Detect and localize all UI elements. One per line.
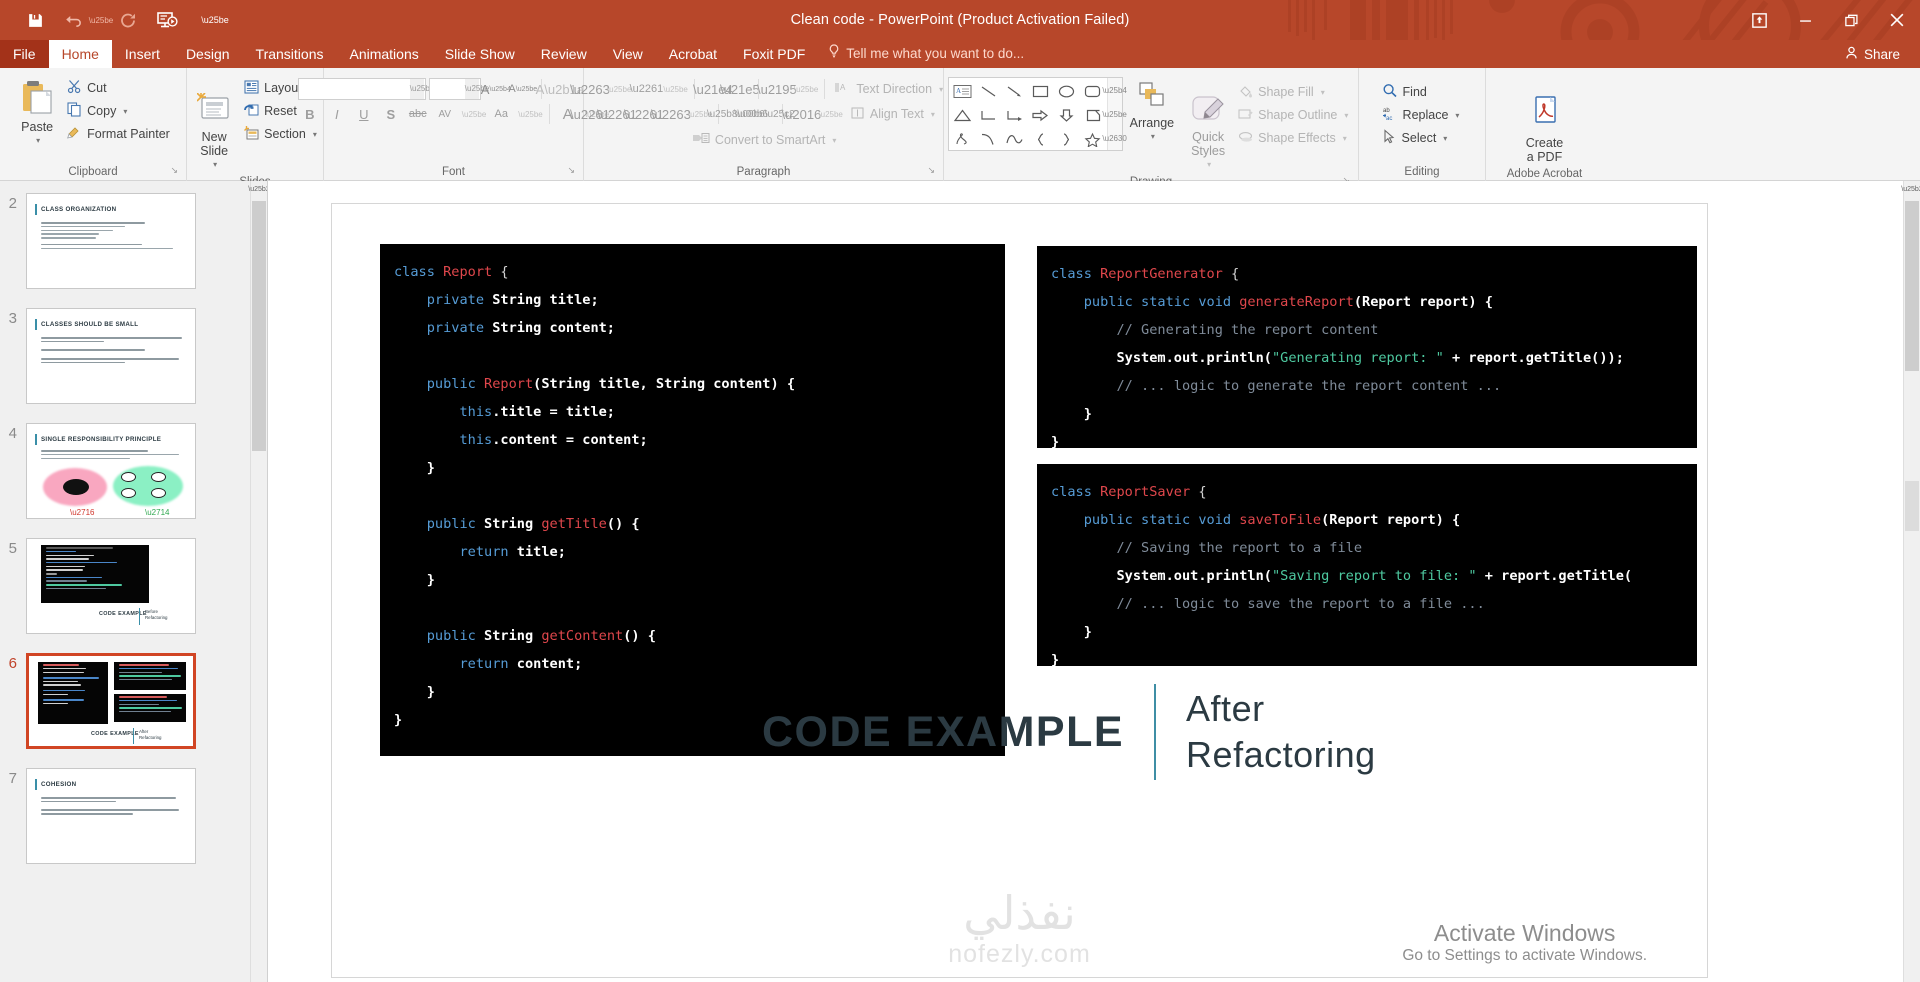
watermark-arabic: نفذلي [948,886,1091,940]
slide-thumbnail[interactable]: COHESION [26,768,196,864]
activation-title: Activate Windows [1402,920,1647,947]
thumb-subcaption: Before Refactoring [145,609,167,620]
clipboard-group-label: Clipboard ↘ [4,164,182,181]
slide-thumbnail-list: 2 CLASS ORGANIZATION 3 CLAS [0,181,267,864]
canvas-scrollbar-thumb-2[interactable] [1905,481,1919,531]
tab-view[interactable]: View [600,40,656,68]
right-brace-shape[interactable] [1054,127,1080,151]
arrange-icon [1135,81,1169,114]
triangle-shape[interactable] [950,103,976,127]
code-line [380,342,1005,370]
watermark: نفذلي nofezly.com [948,886,1091,969]
paragraph-dialog-launcher[interactable]: ↘ [927,162,935,179]
tab-insert[interactable]: Insert [112,40,173,68]
list-item[interactable]: 5 C [0,538,267,634]
paste-caret[interactable]: ▾ [36,134,40,148]
code-line: class ReportSaver { [1037,478,1697,506]
shape-effects-button[interactable]: Shape Effects ▾ [1235,127,1354,149]
text-direction-icon: A [835,81,851,98]
ribbon-group-adobe-acrobat: Create a PDF Adobe Acrobat [1485,68,1603,181]
thumb-caption: CODE EXAMPLE [91,731,139,737]
new-slide-caret[interactable]: ▾ [213,158,217,172]
strikethrough-icon[interactable]: abc [406,103,430,125]
slide-number: 4 [0,423,26,442]
tab-foxit-pdf[interactable]: Foxit PDF [730,40,818,68]
undo-icon[interactable] [54,3,92,37]
tab-animations[interactable]: Animations [336,40,431,68]
rectangle-shape[interactable] [1028,79,1054,103]
tab-slide-show[interactable]: Slide Show [432,40,528,68]
create-pdf-icon [1528,81,1562,134]
increase-font-size-icon[interactable]: A\u25b4 [484,78,508,100]
code-block-report-saver[interactable]: class ReportSaver { public static void s… [1037,464,1697,666]
shapes-gallery-more-icon[interactable]: \u2630 [1108,126,1122,150]
down-arrow-shape[interactable] [1054,103,1080,127]
thumb-title: SINGLE RESPONSIBILITY PRINCIPLE [41,436,161,443]
code-line: class ReportGenerator { [1037,260,1697,288]
svg-text:ab: ab [1383,108,1390,114]
slide-thumbnail-pane[interactable]: 2 CLASS ORGANIZATION 3 CLAS [0,181,268,982]
code-line: this.title = title; [380,398,1005,426]
ribbon-group-drawing: A [943,68,1358,181]
align-text-button[interactable]: Align Text ▾ [846,103,941,125]
scissors-icon [67,79,82,97]
code-line: } [1037,428,1697,448]
tab-file[interactable]: File [0,40,49,68]
copy-label: Copy [87,104,116,118]
reset-label: Reset [264,104,297,118]
rtl-text-direction-icon[interactable]: \u00b6\u25c2 [752,103,776,125]
arrange-button[interactable]: Arrange ▾ [1123,75,1181,146]
current-slide[interactable]: class Report { private String title; pri… [331,203,1708,978]
character-spacing-icon[interactable]: AV [433,103,457,125]
ribbon-tabs[interactable]: File Home Insert Design Transitions Anim… [0,40,1920,68]
find-button[interactable]: Find [1379,81,1466,103]
new-slide-icon [197,79,231,128]
tab-design[interactable]: Design [173,40,243,68]
code-block-report[interactable]: class Report { private String title; pri… [380,244,1005,756]
work-area: 2 CLASS ORGANIZATION 3 CLAS [0,181,1920,982]
code-line: // Generating the report content [1037,316,1697,344]
redo-icon[interactable] [110,3,148,37]
text-shadow-icon[interactable]: S [379,103,403,125]
slide-number: 7 [0,768,26,787]
slide-thumbnail[interactable]: CODE EXAMPLE Before Refactoring [26,538,196,634]
cut-button[interactable]: Cut [64,77,176,99]
font-dialog-launcher[interactable]: ↘ [567,162,575,179]
text-direction-button[interactable]: A Text Direction ▾ [831,78,949,100]
copy-button[interactable]: Copy ▾ [64,100,176,122]
slide-canvas-area: class Report { private String title; pri… [268,181,1920,982]
thumbnail-scrollbar[interactable]: \u25b2 \u25bc [250,181,267,982]
shape-effects-icon [1238,130,1253,147]
slide-number: 3 [0,308,26,327]
code-line: this.content = content; [380,426,1005,454]
shapes-gallery-scrollbar[interactable]: \u25b4 \u25be \u2630 [1107,78,1122,150]
list-item[interactable]: 3 CLASSES SHOULD BE SMALL [0,308,267,404]
canvas-scrollbar[interactable]: \u25b2 \u25bc [1903,181,1920,982]
code-line: public String getTitle() { [380,510,1005,538]
list-item[interactable]: 2 CLASS ORGANIZATION [0,193,267,289]
elbow-arrow-connector-shape[interactable] [1002,103,1028,127]
bold-icon[interactable]: B [298,103,322,125]
undo-dropdown-icon[interactable]: \u25be [92,3,110,37]
slide-caption: CODE EXAMPLE After Refactoring [762,684,1376,780]
line-spacing-icon[interactable]: \u2195 [765,78,789,100]
oval-shape[interactable] [1054,79,1080,103]
tell-me-search[interactable]: Tell me what you want to do... [818,40,1034,68]
replace-button[interactable]: abac Replace ▾ [1379,104,1466,126]
shape-outline-button[interactable]: Shape Outline ▾ [1235,104,1354,126]
list-item[interactable]: 6 [0,653,267,749]
svg-text:A: A [840,83,846,92]
arrange-caret[interactable]: ▾ [1151,130,1155,144]
code-line: return title; [380,538,1005,566]
ribbon-group-paragraph: \u2263\u25be \u2261\u25be \u21e4 \u21e5 … [583,68,943,181]
freeform-shape[interactable] [1002,127,1028,151]
code-line: // ... logic to save the report to a fil… [1037,590,1697,618]
format-painter-label: Format Painter [87,127,170,141]
clipboard-dialog-launcher[interactable]: ↘ [170,162,178,179]
code-line: System.out.println("Generating report: "… [1037,344,1697,372]
paste-label: Paste [21,120,53,134]
ribbon: Paste ▾ Cut Copy ▾ [0,68,1920,181]
code-line: private String content; [380,314,1005,342]
window-controls[interactable] [1736,0,1920,40]
replace-icon: abac [1382,106,1398,124]
change-case-icon[interactable]: Aa [489,103,513,125]
create-pdf-label: Create a PDF [1526,136,1564,164]
code-line: } [1037,400,1697,428]
bullets-icon[interactable]: \u2263 [578,78,602,100]
format-painter-icon [67,125,82,143]
shapes-scroll-up-icon[interactable]: \u25b4 [1108,78,1122,102]
slide-number: 6 [0,653,26,672]
canvas-scroll-up-icon[interactable]: \u25b2 [1905,181,1919,198]
left-brace-shape[interactable] [1028,127,1054,151]
windows-activation-notice: Activate Windows Go to Settings to activ… [1402,920,1647,965]
ribbon-group-font: \u25be \u25be A\u25b4 A\u25be A\u2b1a B … [323,68,583,181]
quick-styles-label: Quick Styles [1191,130,1225,158]
share-button[interactable]: Share [1833,40,1912,68]
thumb-title: CLASSES SHOULD BE SMALL [41,321,138,328]
ribbon-group-editing: Find abac Replace ▾ Select ▾ E [1358,68,1485,181]
code-line: public Report(String title, String conte… [380,370,1005,398]
slide-thumbnail[interactable]: CLASS ORGANIZATION [26,193,196,289]
paste-button[interactable]: Paste ▾ [10,75,64,150]
find-icon [1382,83,1398,101]
font-group-label: Font ↘ [328,164,579,181]
person-icon [1845,46,1858,62]
code-line: System.out.println("Saving report to fil… [1037,562,1697,590]
caption-divider [1154,684,1156,780]
code-line [380,482,1005,510]
select-button[interactable]: Select ▾ [1379,127,1466,149]
svg-text:A: A [956,87,961,95]
ribbon-group-clipboard: Paste ▾ Cut Copy ▾ [0,68,186,181]
start-from-beginning-icon[interactable] [148,3,186,37]
underline-icon[interactable]: U [352,103,376,125]
title-bar: \u25be \u25be Clean code - PowerPoint (P… [0,0,1920,40]
code-line [380,594,1005,622]
quick-styles-caret[interactable]: ▾ [1207,158,1211,172]
copy-caret[interactable]: ▾ [123,107,127,116]
curve-shape[interactable] [976,127,1002,151]
tell-me-label: Tell me what you want to do... [846,40,1024,68]
code-line: public static void saveToFile(Report rep… [1037,506,1697,534]
thumbnail-scroll-up-icon[interactable]: \u25b2 [252,181,266,198]
code-line: // Saving the report to a file [1037,534,1697,562]
tab-review[interactable]: Review [528,40,600,68]
slide-number: 2 [0,193,26,212]
thumbnail-scrollbar-thumb[interactable] [252,201,266,451]
minimize-button[interactable] [1782,0,1828,40]
new-slide-label: New Slide [200,130,228,158]
svg-text:ac: ac [1386,116,1392,121]
select-icon [1382,129,1397,147]
numbering-icon[interactable]: \u2261 [634,78,658,100]
ribbon-display-options-icon[interactable] [1736,0,1782,40]
justify-icon[interactable]: \u2263 [659,103,683,125]
code-line: } [380,454,1005,482]
paste-icon [20,79,54,118]
paragraph-group-label: Paragraph ↘ [588,164,939,181]
elbow-connector-shape[interactable] [976,103,1002,127]
textbox-shape[interactable]: A [950,79,976,103]
restore-button[interactable] [1828,0,1874,40]
shapes-scroll-down-icon[interactable]: \u25be [1108,102,1122,126]
caption-sub: After Refactoring [1186,686,1376,778]
arrow-shape[interactable] [1002,79,1028,103]
scribble-shape[interactable] [950,127,976,151]
canvas-scrollbar-thumb[interactable] [1905,201,1919,371]
align-text-icon [850,106,865,123]
code-line: public static void generateReport(Report… [1037,288,1697,316]
quick-styles-icon [1190,81,1226,128]
thumb-title: CLASS ORGANIZATION [41,206,116,213]
activation-subtitle: Go to Settings to activate Windows. [1402,947,1647,965]
copy-icon [67,102,82,120]
quick-access-toolbar[interactable]: \u25be \u25be [0,3,234,37]
customize-qat-icon[interactable]: \u25be [196,3,234,37]
create-pdf-button[interactable]: Create a PDF [1518,75,1572,166]
quick-styles-button[interactable]: Quick Styles ▾ [1181,75,1235,174]
window-title: Clean code - PowerPoint (Product Activat… [0,12,1920,28]
cut-label: Cut [87,81,106,95]
new-slide-button[interactable]: New Slide ▾ [187,75,241,174]
code-block-report-generator[interactable]: class ReportGenerator { public static vo… [1037,246,1697,448]
reset-icon [244,103,259,120]
section-icon [244,126,259,143]
decrease-font-size-icon[interactable]: A\u25be [511,78,535,100]
shape-outline-icon [1238,107,1253,124]
convert-to-smartart-icon [693,132,710,148]
thumb-subcaption: After Refactoring [139,729,161,740]
code-line: class Report { [380,258,1005,286]
code-line: // ... logic to generate the report cont… [1037,372,1697,400]
line-shape[interactable] [976,79,1002,103]
convert-to-smartart-button[interactable]: Convert to SmartArt ▾ [690,129,842,151]
caption-main: CODE EXAMPLE [762,708,1124,757]
increase-indent-icon[interactable]: \u21e5 [728,78,752,100]
slide-thumbnail-selected[interactable]: CODE EXAMPLE After Refactoring [26,653,196,749]
code-line: } [380,566,1005,594]
slide-number: 5 [0,538,26,557]
code-line: return content; [380,650,1005,678]
code-line: private String title; [380,286,1005,314]
lightbulb-icon [828,40,840,68]
format-painter-button[interactable]: Format Painter [64,123,176,145]
italic-icon[interactable]: I [325,103,349,125]
tab-transitions[interactable]: Transitions [243,40,337,68]
thumb-title: COHESION [41,781,76,788]
list-item[interactable]: 4 SINGLE RESPONSIBILITY PRINCIPLE \ [0,423,267,519]
code-line: } [1037,618,1697,646]
shape-fill-button[interactable]: Shape Fill ▾ [1235,81,1354,103]
watermark-english: nofezly.com [948,940,1091,969]
list-item[interactable]: 7 COHESION [0,768,267,864]
slide-thumbnail[interactable]: CLASSES SHOULD BE SMALL [26,308,196,404]
slide-thumbnail[interactable]: SINGLE RESPONSIBILITY PRINCIPLE \u2716 \… [26,423,196,519]
close-button[interactable] [1874,0,1920,40]
code-line: public String getContent() { [380,622,1005,650]
font-name-input[interactable]: \u25be [298,78,426,100]
tab-home[interactable]: Home [49,40,112,68]
save-icon[interactable] [16,3,54,37]
columns-icon[interactable]: \u2016 [789,103,813,125]
share-label: Share [1864,47,1900,62]
shape-fill-icon [1238,84,1253,101]
tab-acrobat[interactable]: Acrobat [656,40,730,68]
arrange-label: Arrange [1130,116,1174,130]
font-size-input[interactable]: \u25be [429,78,481,100]
layout-icon [244,80,259,97]
right-arrow-shape[interactable] [1028,103,1054,127]
code-line: } [1037,646,1697,666]
editing-group-label: Editing [1363,164,1481,181]
clear-formatting-icon[interactable]: A\u2b1a [548,78,572,100]
shapes-gallery[interactable]: A [948,77,1123,151]
